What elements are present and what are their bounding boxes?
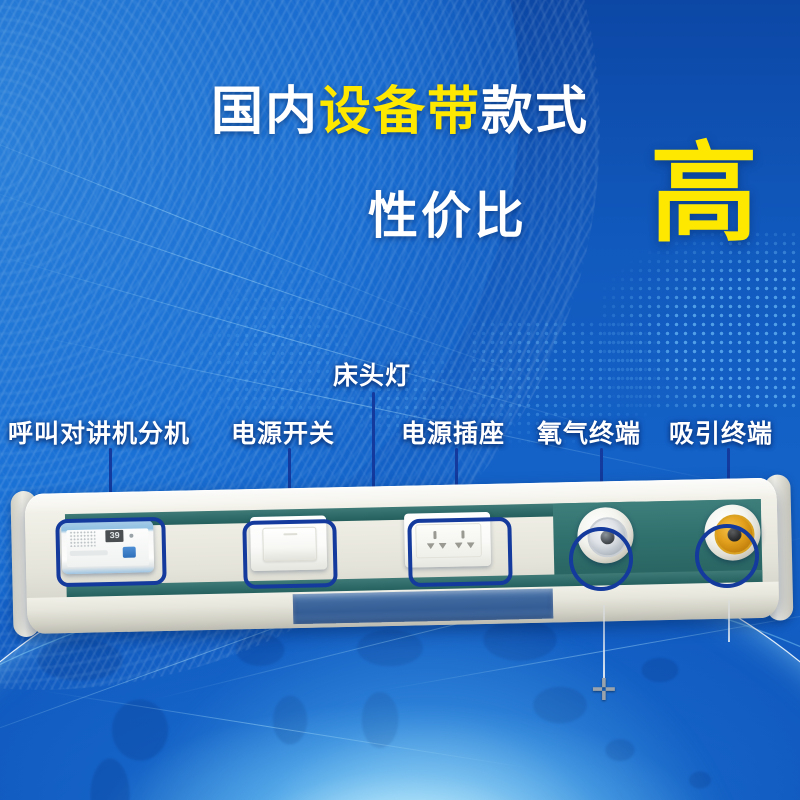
pull-cord-secondary	[728, 600, 730, 642]
pull-cord[interactable]	[603, 605, 605, 683]
bed-lamp-diffuser[interactable]	[293, 589, 554, 625]
halftone-dots-4	[170, 250, 350, 410]
highlight-box-power-socket	[407, 517, 512, 587]
callout-label-intercom: 呼叫对讲机分机	[8, 414, 190, 450]
highlight-box-intercom	[55, 517, 166, 587]
callout-label-bed-lamp: 床头灯	[333, 356, 411, 392]
callout-label-power-switch: 电源开关	[231, 414, 335, 450]
promo-banner: 国内设备带款式 性价比 高 呼叫对讲机分机 电源开关 床头灯 电源插座 氧气终端…	[0, 0, 800, 800]
halftone-dots-1	[600, 230, 800, 410]
callout-label-oxygen-terminal: 氧气终端	[537, 414, 641, 450]
callout-label-suction-terminal: 吸引终端	[669, 414, 773, 450]
highlight-box-power-switch	[242, 519, 337, 589]
highlight-ring-suction-terminal	[695, 524, 759, 588]
callout-label-power-socket: 电源插座	[401, 414, 505, 450]
pull-cord-weight-icon: ✛	[589, 676, 619, 706]
highlight-ring-oxygen-terminal	[569, 527, 633, 591]
